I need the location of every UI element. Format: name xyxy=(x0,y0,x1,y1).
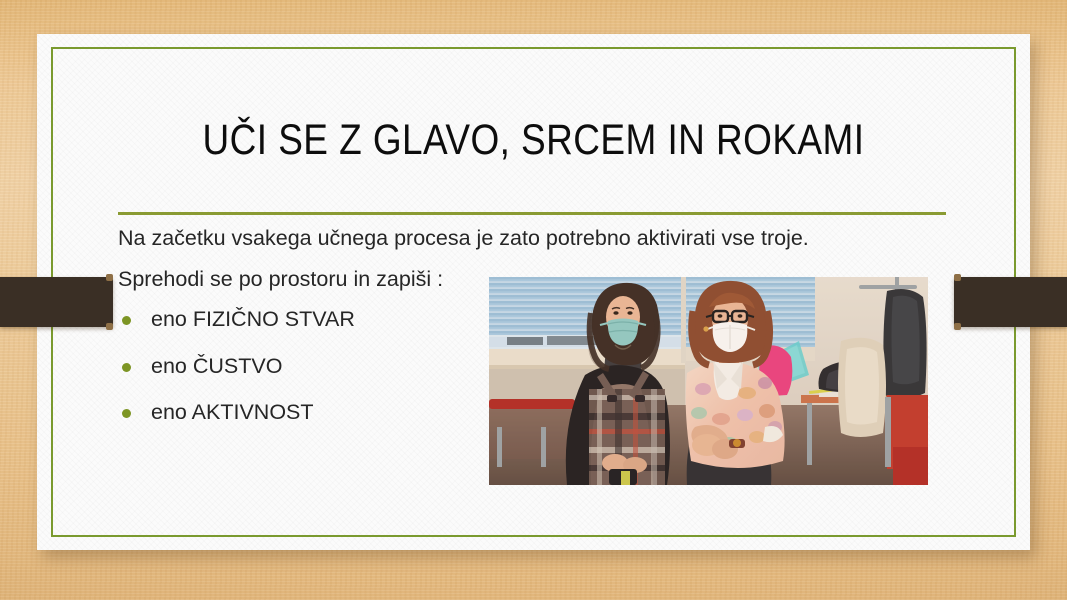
bullet-dot-icon xyxy=(122,316,131,325)
classroom-photo xyxy=(489,277,928,485)
ribbon-tab-right xyxy=(954,277,1067,327)
slide-title: UČI SE Z GLAVO, SRCEM IN ROKAMI xyxy=(75,118,993,163)
bullet-dot-icon xyxy=(122,409,131,418)
intro-paragraph: Na začetku vsakega učnega procesa je zat… xyxy=(118,228,948,250)
title-divider-rule xyxy=(118,212,946,215)
bullet-label: eno ČUSTVO xyxy=(151,354,282,378)
bullet-label: eno FIZIČNO STVAR xyxy=(151,307,355,331)
ribbon-tab-left xyxy=(0,277,113,327)
classroom-photo-image xyxy=(489,277,928,485)
bullet-label: eno AKTIVNOST xyxy=(151,400,314,424)
slide-stage: UČI SE Z GLAVO, SRCEM IN ROKAMI Na začet… xyxy=(0,0,1067,600)
bullet-dot-icon xyxy=(122,363,131,372)
